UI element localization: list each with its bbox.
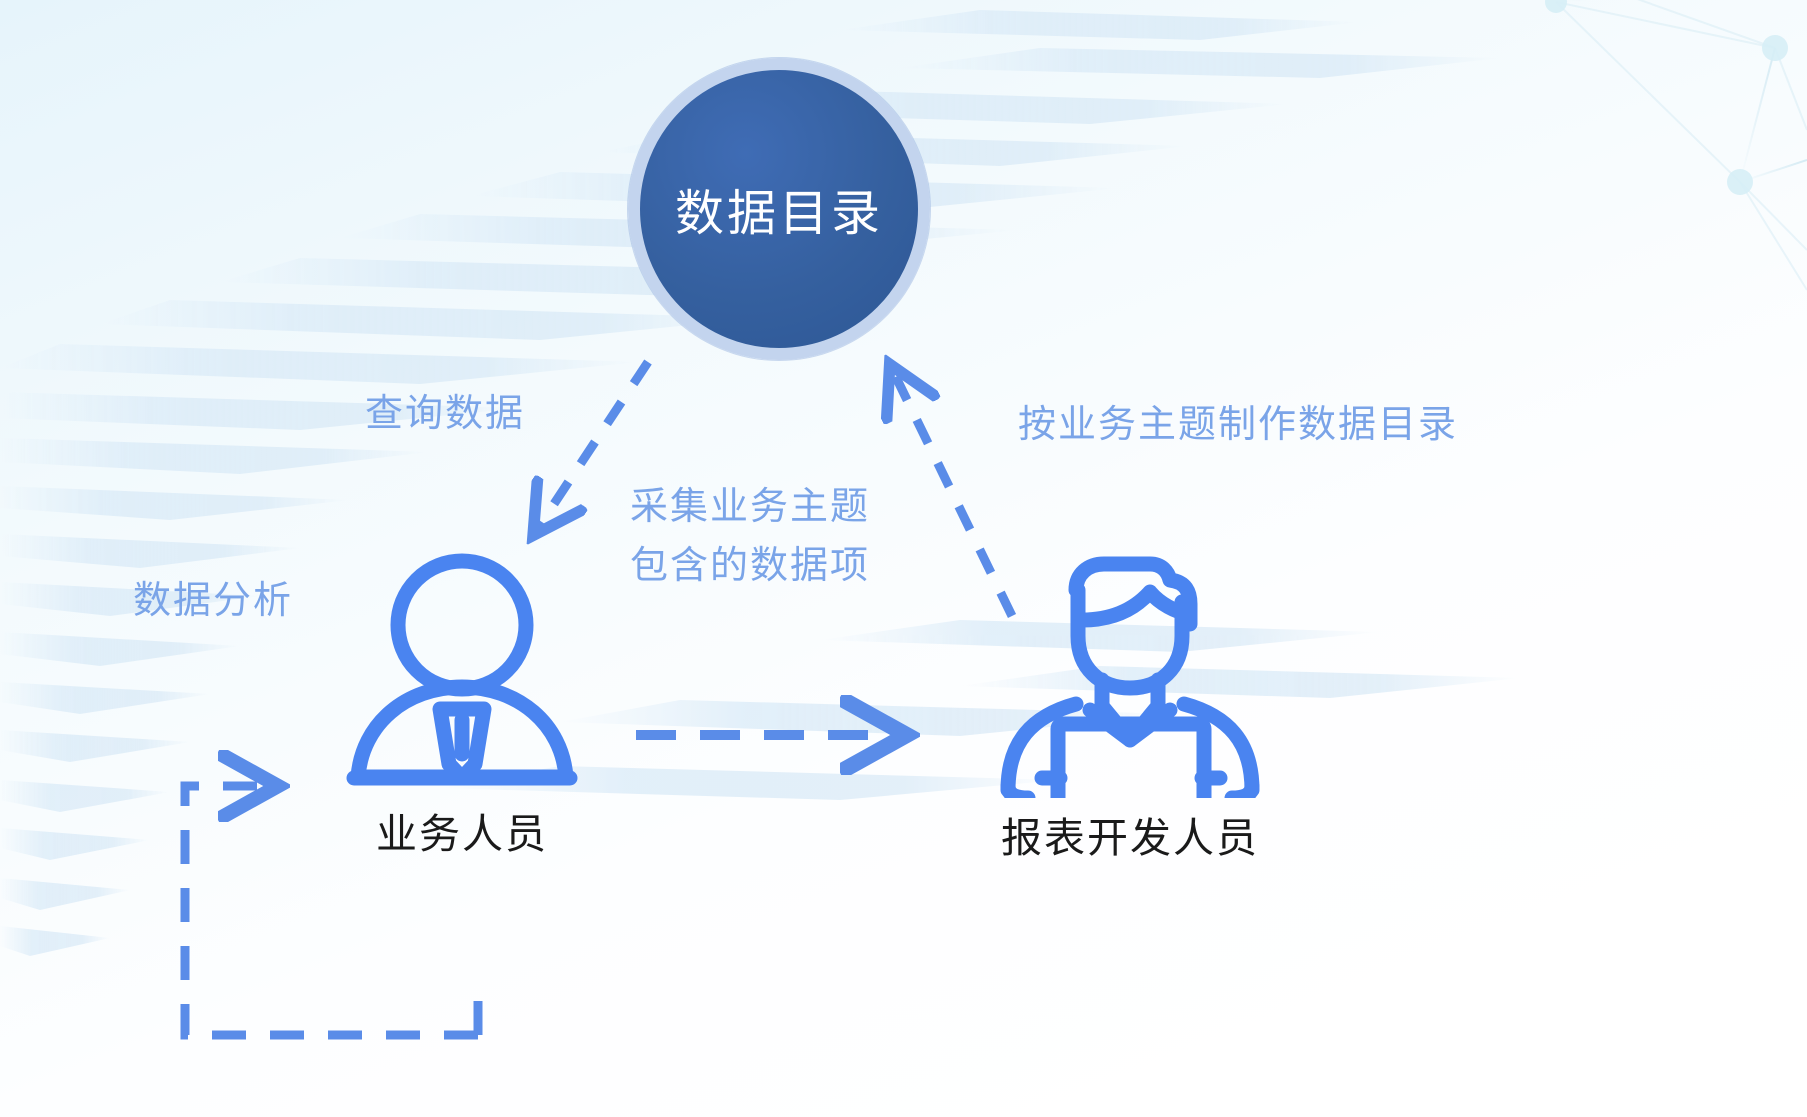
actor-business-person-label: 业务人员 [376,800,548,860]
actor-business-person[interactable]: 业务人员 [338,548,586,860]
person-with-tie-icon [344,548,580,794]
actor-report-developer-label: 报表开发人员 [1001,804,1259,864]
hub-node-data-catalog[interactable]: 数据目录 [628,58,930,360]
edge-label-data-analysis: 数据分析 [133,572,293,631]
actor-report-developer[interactable]: 报表开发人员 [985,528,1275,864]
edge-label-build-catalog: 按业务主题制作数据目录 [1018,396,1458,455]
hub-node-label: 数据目录 [675,174,883,245]
developer-with-laptop-icon [990,528,1270,798]
edge-label-collect-line2: 包含的数据项 [630,537,870,596]
edge-label-collect-line1: 采集业务主题 [630,478,870,537]
diagram-canvas: 数据目录 查询数据 采集业务主题 包含的数据项 按业务主题制作数据目录 数据分析… [0,0,1807,1117]
edge-label-query-data: 查询数据 [365,385,525,444]
edge-label-collect-items: 采集业务主题 包含的数据项 [630,478,870,596]
